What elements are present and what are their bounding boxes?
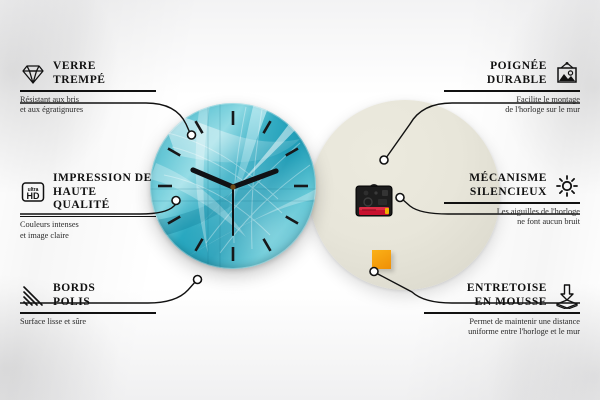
feature-title: POIGNÉE DURABLE xyxy=(487,60,547,87)
feature-entretoise-en-mousse: ENTRETOISE EN MOUSSE Permet de maintenir… xyxy=(424,282,580,338)
feature-header: ENTRETOISE EN MOUSSE xyxy=(424,282,580,309)
feature-impression-haute-qualite: ultra HD IMPRESSION DE HAUTE QUALITÉ Cou… xyxy=(20,172,156,241)
svg-text:HD: HD xyxy=(27,191,40,201)
ultra-hd-badge-icon: ultra HD xyxy=(20,179,46,205)
polished-edge-icon xyxy=(20,283,46,309)
feature-subtitle: Résistant aux bris et aux égratignures xyxy=(20,95,156,116)
feature-header: MÉCANISME SILENCIEUX xyxy=(444,172,580,199)
feature-verre-trempe: VERRE TREMPÉ Résistant aux bris et aux é… xyxy=(20,60,156,116)
divider xyxy=(20,90,156,92)
feature-title: IMPRESSION DE HAUTE QUALITÉ xyxy=(53,172,156,213)
feature-header: ultra HD IMPRESSION DE HAUTE QUALITÉ xyxy=(20,172,156,213)
feature-header: POIGNÉE DURABLE xyxy=(444,60,580,87)
feature-poignee-durable: POIGNÉE DURABLE Facilite le montage de l… xyxy=(444,60,580,116)
hanging-frame-icon xyxy=(554,61,580,87)
divider xyxy=(444,202,580,204)
feature-title: ENTRETOISE EN MOUSSE xyxy=(467,282,547,309)
clock-movement xyxy=(352,180,396,224)
feature-title: MÉCANISME SILENCIEUX xyxy=(469,172,547,199)
divider xyxy=(20,312,156,314)
feature-bords-polis: BORDS POLIS Surface lisse et sûre xyxy=(20,282,156,327)
foam-spacer-arrow-icon xyxy=(554,283,580,309)
foam-spacer xyxy=(372,250,391,269)
clock-face xyxy=(150,103,316,269)
divider xyxy=(20,216,156,218)
feature-subtitle: Permet de maintenir une distance uniform… xyxy=(424,317,580,338)
feature-title: BORDS POLIS xyxy=(53,282,95,309)
feature-mecanisme-silencieux: MÉCANISME SILENCIEUX Les aiguilles de l'… xyxy=(444,172,580,228)
infographic-canvas: VERRE TREMPÉ Résistant aux bris et aux é… xyxy=(0,0,600,400)
diamond-icon xyxy=(20,61,46,87)
feature-subtitle: Surface lisse et sûre xyxy=(20,317,156,328)
feature-subtitle: Couleurs intenses et image claire xyxy=(20,220,156,241)
feature-header: BORDS POLIS xyxy=(20,282,156,309)
feature-subtitle: Facilite le montage de l'horloge sur le … xyxy=(444,95,580,116)
feature-title: VERRE TREMPÉ xyxy=(53,60,106,87)
divider xyxy=(444,90,580,92)
gear-icon xyxy=(554,173,580,199)
feature-header: VERRE TREMPÉ xyxy=(20,60,156,87)
divider xyxy=(424,312,580,314)
feature-subtitle: Les aiguilles de l'horloge ne font aucun… xyxy=(444,207,580,228)
